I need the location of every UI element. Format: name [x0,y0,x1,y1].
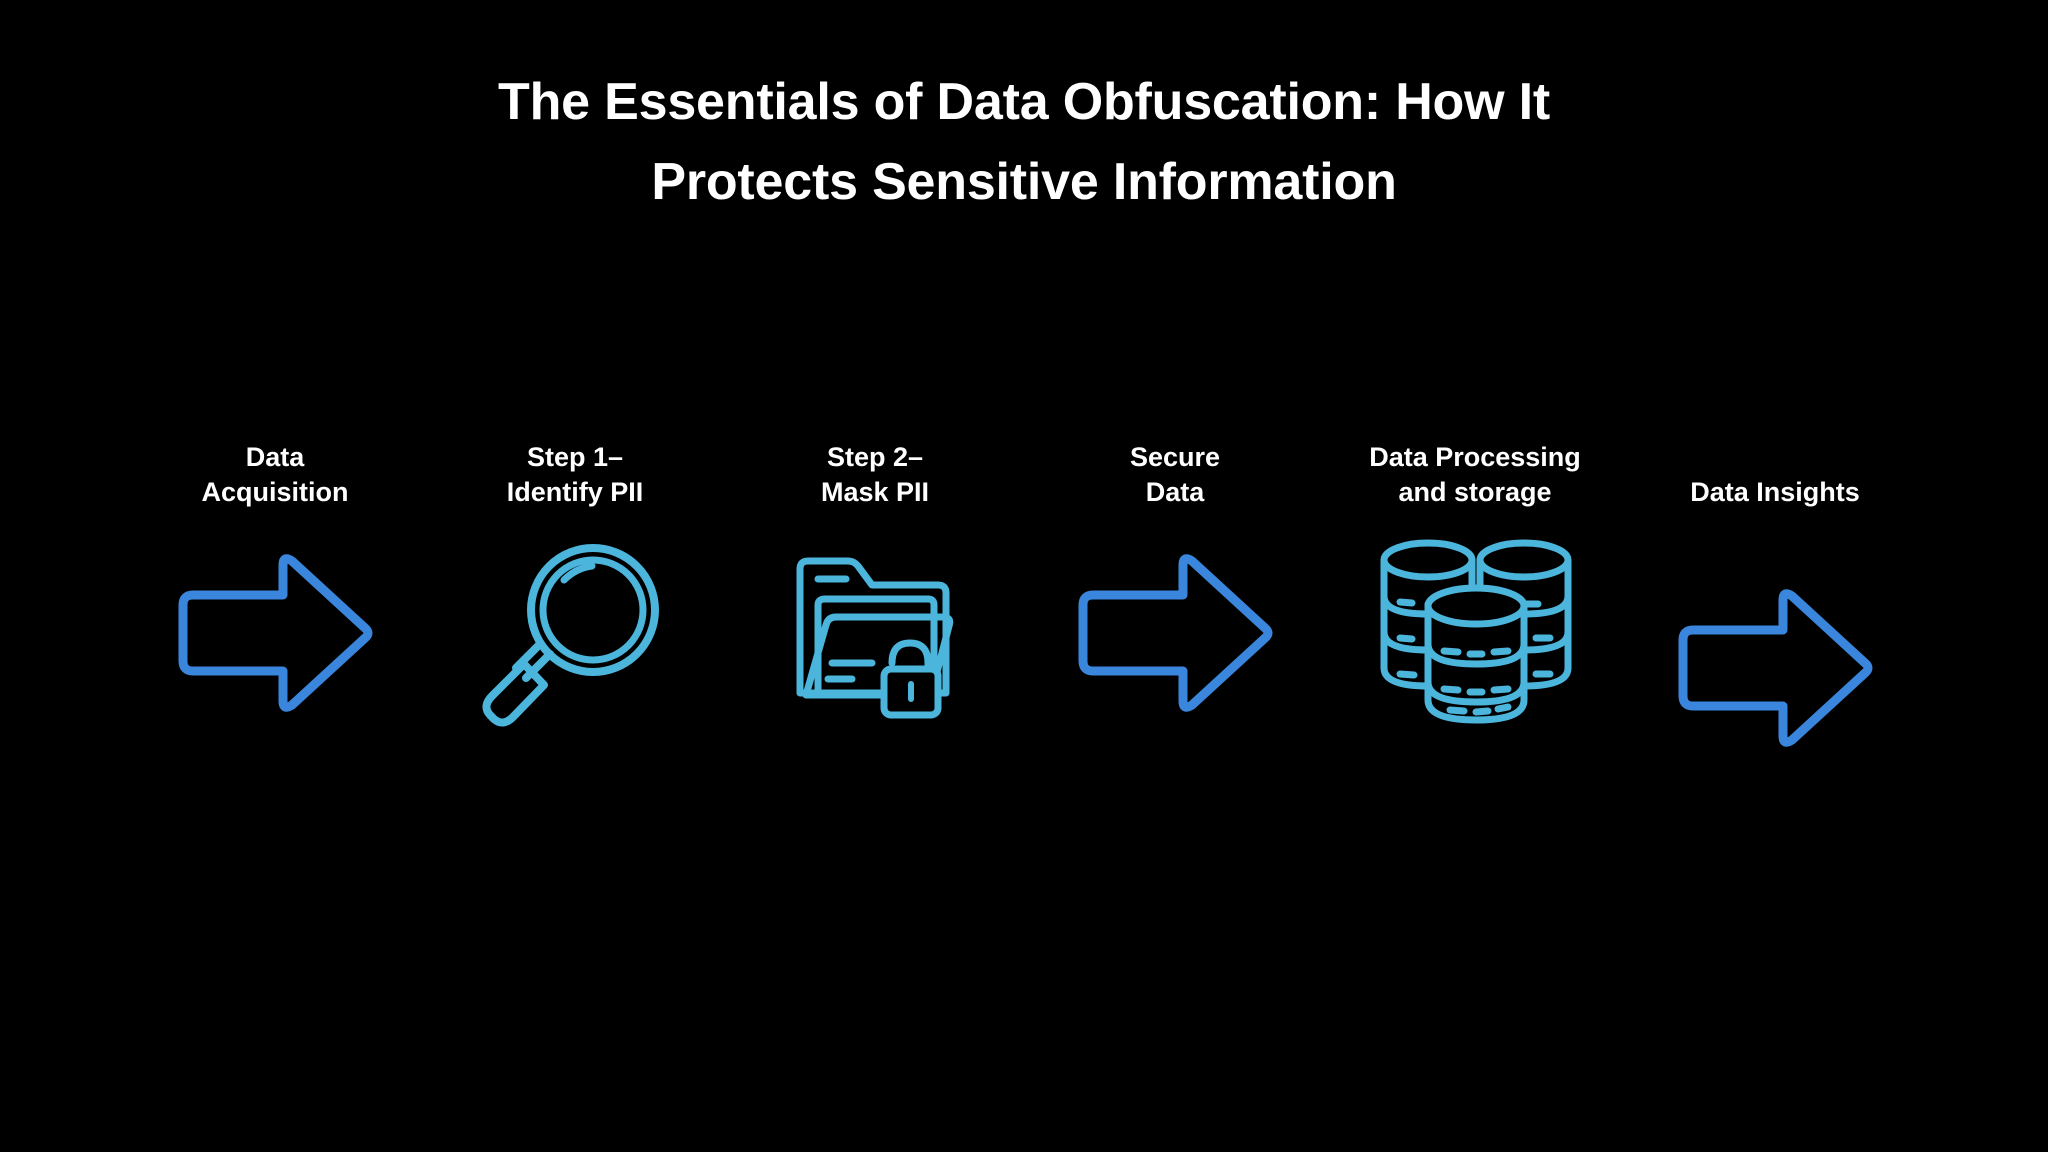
folder-lock-icon [755,538,995,728]
flow-step-data-insights: Data Insights [1630,440,1920,763]
page-title: The Essentials of Data Obfuscation: How … [0,62,2048,222]
flow-step-label: Data Acquisition [202,440,349,510]
database-stack-icon [1355,538,1595,728]
flow-step-data-acquisition: Data Acquisition [130,440,420,728]
flow-step-label: Data Insights [1690,440,1860,545]
flow-step-label: Data Processing and storage [1369,440,1581,510]
flow-step-data-processing-storage: Data Processing and storage [1330,440,1620,728]
flow-step-label: Secure Data [1130,440,1220,510]
flow-step-label: Step 2– Mask PII [821,440,929,510]
flow-step-mask-pii: Step 2– Mask PII [730,440,1020,728]
magnifying-glass-icon [455,538,695,728]
right-arrow-icon [1655,573,1895,763]
flow-step-label: Step 1– Identify PII [507,440,644,510]
flow-step-identify-pii: Step 1– Identify PII [430,440,720,728]
process-flow-row: Data Acquisition Step 1– Identify PII St… [130,440,1920,780]
flow-step-secure-data: Secure Data [1030,440,1320,728]
right-arrow-icon [1055,538,1295,728]
right-arrow-icon [155,538,395,728]
